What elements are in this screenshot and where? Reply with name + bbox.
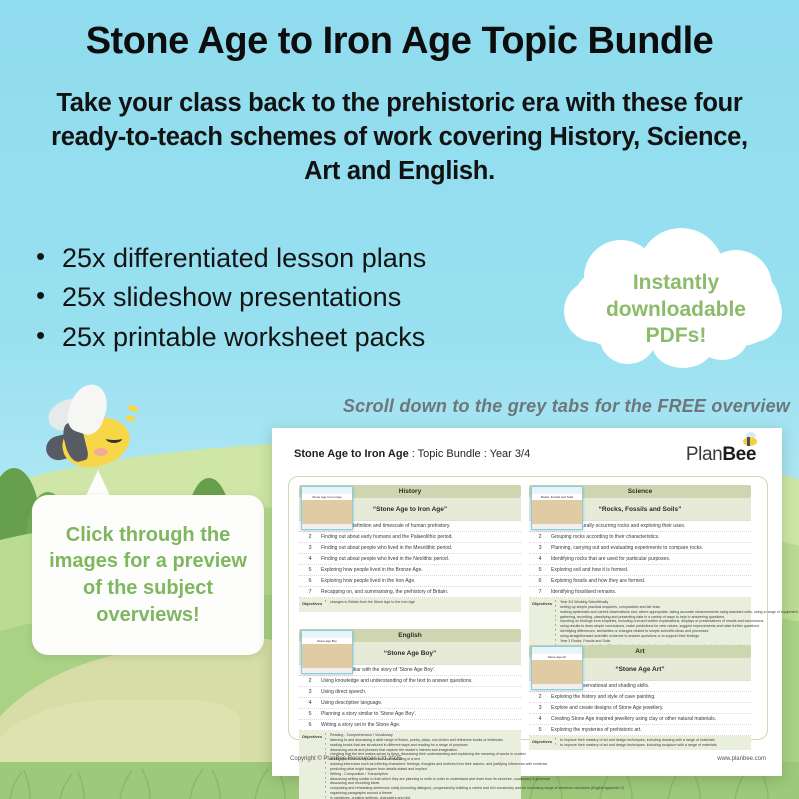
lesson-objective: Planning a story similar to ‘Stone Age B… <box>321 711 416 717</box>
lesson-number: 3 <box>529 705 551 711</box>
scheme-title: “Stone Age Boy” <box>384 650 437 657</box>
table-row: 3Finding out about people who lived in t… <box>299 543 521 554</box>
subject-panel-english[interactable]: Stone Age BoyEnglish“Stone Age Boy”1Beco… <box>299 629 521 799</box>
bee-mascot-icon <box>36 382 140 474</box>
thumbnail-banner <box>532 647 582 654</box>
lesson-objective: Finding out about early humans and the P… <box>321 534 453 540</box>
bee-sparkle-icon <box>127 404 138 412</box>
lesson-number: 5 <box>529 727 551 733</box>
subject-name: History <box>399 488 421 495</box>
lesson-objective: Using direct speech. <box>321 689 366 695</box>
thumbnail-footer <box>302 668 352 673</box>
copyright-text: Copyright © PlanBee Resources Ltd 2025 <box>290 756 402 762</box>
subject-panel-art[interactable]: Stone Age ArtArt“Stone Age Art”1Developi… <box>529 645 751 750</box>
lesson-number: 4 <box>299 700 321 706</box>
lesson-number: 4 <box>529 556 551 562</box>
lesson-objective: Grouping rocks according to their charac… <box>551 534 659 540</box>
thumbnail-cover-image <box>302 644 352 668</box>
list-item: 25x slideshow presentations <box>32 278 426 317</box>
lesson-list: 1Exploring the definition and timescale … <box>299 520 521 598</box>
lesson-number: 3 <box>529 545 551 551</box>
subject-thumbnail-english[interactable]: Stone Age Boy <box>301 630 353 674</box>
speech-bubble[interactable]: Click through the images for a preview o… <box>32 495 264 655</box>
lesson-objective: Using knowledge and understanding of the… <box>321 678 473 684</box>
document-footer: Copyright © PlanBee Resources Ltd 2025 w… <box>290 756 766 762</box>
objective-item: changes in Britain from the Stone Age to… <box>325 600 518 605</box>
table-row: 6Exploring fossils and how they are form… <box>529 576 751 587</box>
table-row: 2Grouping rocks according to their chara… <box>529 532 751 543</box>
curriculum-objectives: ObjectivesReading - Comprehension / Voca… <box>299 731 521 799</box>
subject-name: Art <box>635 648 644 655</box>
lesson-objective: Exploring how people lived in the Iron A… <box>321 578 416 584</box>
table-row: 2Exploring the history and style of cave… <box>529 692 751 703</box>
lesson-number: 2 <box>529 534 551 540</box>
subject-panel-science[interactable]: Rocks, Fossils and SoilsScience“Rocks, F… <box>529 485 751 660</box>
thumbnail-footer <box>532 524 582 529</box>
scroll-hint-text: Scroll down to the grey tabs for the FRE… <box>270 396 790 417</box>
lesson-objective: Explore and create designs of Stone Age … <box>551 705 663 711</box>
subject-thumbnail-art[interactable]: Stone Age Art <box>531 646 583 690</box>
scheme-title: “Stone Age Art” <box>615 666 664 673</box>
objectives-items: changes in Britain from the Stone Age to… <box>325 600 521 610</box>
thumbnail-footer <box>532 684 582 689</box>
poster-canvas: Stone Age to Iron Age Topic Bundle Take … <box>0 0 799 799</box>
lesson-number: 4 <box>299 556 321 562</box>
lesson-objective: Recapping on, and summarising, the prehi… <box>321 589 448 595</box>
thumbnail-footer <box>302 524 352 529</box>
document-preview[interactable]: Stone Age to Iron Age : Topic Bundle : Y… <box>272 428 782 776</box>
lesson-number: 2 <box>299 678 321 684</box>
planbee-logo: PlanBee <box>686 444 756 466</box>
lesson-objective: Planning, carrying out and evaluating ex… <box>551 545 703 551</box>
lesson-number: 7 <box>529 589 551 595</box>
subject-name: English <box>398 632 421 639</box>
logo-plan-text: Plan <box>686 444 722 465</box>
curriculum-objectives: Objectiveschanges in Britain from the St… <box>299 598 521 612</box>
lesson-number: 7 <box>299 589 321 595</box>
table-row: 5Exploring how people lived in the Bronz… <box>299 565 521 576</box>
lesson-number: 3 <box>299 545 321 551</box>
scheme-title: “Stone Age to Iron Age” <box>373 506 447 513</box>
lesson-list: 1Becoming familiar with the story of ‘St… <box>299 664 521 731</box>
list-item: 25x printable worksheet packs <box>32 318 426 357</box>
table-row: 4Identifying rocks that are used for par… <box>529 554 751 565</box>
document-header: Stone Age to Iron Age : Topic Bundle : Y… <box>294 448 764 472</box>
thumbnail-cover-image <box>532 660 582 684</box>
thumbnail-banner <box>302 487 352 494</box>
cloud-badge: Instantly downloadable PDFs! <box>560 228 792 378</box>
lesson-objective: Exploring soil and how it is formed. <box>551 567 628 573</box>
cloud-line-1: Instantly <box>560 270 792 297</box>
bee-blush-icon <box>94 448 108 456</box>
table-row: 3Planning, carrying out and evaluating e… <box>529 543 751 554</box>
table-row: 7Recapping on, and summarising, the preh… <box>299 587 521 598</box>
subject-thumbnail-science[interactable]: Rocks, Fossils and Soils <box>531 486 583 530</box>
curriculum-objectives: Objectivesto improve their mastery of ar… <box>529 736 751 750</box>
lesson-objective: Exploring the history and style of cave … <box>551 694 656 700</box>
objectives-label: Objectives <box>299 733 325 799</box>
website-text: www.planbee.com <box>717 756 766 762</box>
thumbnail-banner <box>532 487 582 494</box>
lesson-objective: Using descriptive language. <box>321 700 382 706</box>
lesson-number: 5 <box>299 567 321 573</box>
lesson-objective: Exploring fossils and how they are forme… <box>551 578 645 584</box>
logo-bee-icon <box>740 432 760 448</box>
document-title-rest: : Topic Bundle : Year 3/4 <box>409 448 531 460</box>
table-row: 5Planning a story similar to ‘Stone Age … <box>299 709 521 720</box>
bee-sparkle-icon <box>125 415 135 423</box>
bee-eye-icon <box>106 434 122 443</box>
objectives-label: Objectives <box>529 738 555 748</box>
thumbnail-banner <box>302 631 352 638</box>
table-row: 2Finding out about early humans and the … <box>299 532 521 543</box>
lesson-number: 2 <box>529 694 551 700</box>
table-row: 7Identifying fossilised remains. <box>529 587 751 598</box>
page-title: Stone Age to Iron Age Topic Bundle <box>0 20 799 63</box>
table-row: 4Using descriptive language. <box>299 698 521 709</box>
cloud-line-2: downloadable <box>560 297 792 324</box>
table-row: 4Creating Stone Age inspired jewellery u… <box>529 714 751 725</box>
objectives-items: to improve their mastery of art and desi… <box>555 738 751 748</box>
thumbnail-cover-image <box>302 500 352 524</box>
table-row: 3Explore and create designs of Stone Age… <box>529 703 751 714</box>
lesson-list: 1Identifying naturally occurring rocks a… <box>529 520 751 598</box>
document-title-bold: Stone Age to Iron Age <box>294 448 409 460</box>
speech-bubble-text: Click through the images for a preview o… <box>32 522 264 628</box>
lesson-number: 6 <box>299 722 321 728</box>
subject-name: Science <box>628 488 653 495</box>
scheme-title: “Rocks, Fossils and Soils” <box>599 506 682 513</box>
lesson-number: 6 <box>299 578 321 584</box>
table-row: 6Writing a story set in the Stone Age. <box>299 720 521 731</box>
lesson-objective: Exploring the mysteries of prehistoric a… <box>551 727 642 733</box>
lesson-number: 5 <box>529 567 551 573</box>
table-row: 4Finding out about people who lived in t… <box>299 554 521 565</box>
objective-item: to improve their mastery of art and desi… <box>555 743 748 748</box>
lesson-number: 2 <box>299 534 321 540</box>
subject-panel-history[interactable]: Stone Age to Iron AgeHistory“Stone Age t… <box>299 485 521 612</box>
table-row: 3Using direct speech. <box>299 687 521 698</box>
cloud-badge-text: Instantly downloadable PDFs! <box>560 270 792 350</box>
page-subtitle: Take your class back to the prehistoric … <box>40 86 759 188</box>
objectives-label: Objectives <box>299 600 325 610</box>
table-row: 5Exploring the mysteries of prehistoric … <box>529 725 751 736</box>
lesson-objective: Creating Stone Age inspired jewellery us… <box>551 716 716 722</box>
lesson-number: 6 <box>529 578 551 584</box>
cloud-line-3: PDFs! <box>560 323 792 350</box>
lesson-objective: Finding out about people who lived in th… <box>321 545 452 551</box>
lesson-objective: Identifying rocks that are used for part… <box>551 556 670 562</box>
subject-thumbnail-history[interactable]: Stone Age to Iron Age <box>301 486 353 530</box>
table-row: 2Using knowledge and understanding of th… <box>299 676 521 687</box>
lesson-number: 4 <box>529 716 551 722</box>
lesson-number: 3 <box>299 689 321 695</box>
thumbnail-cover-image <box>532 500 582 524</box>
lesson-objective: Identifying fossilised remains. <box>551 589 616 595</box>
lesson-objective: Finding out about people who lived in th… <box>321 556 449 562</box>
list-item: 25x differentiated lesson plans <box>32 239 426 278</box>
table-row: 6Exploring how people lived in the Iron … <box>299 576 521 587</box>
lesson-objective: Exploring how people lived in the Bronze… <box>321 567 423 573</box>
lesson-number: 5 <box>299 711 321 717</box>
lesson-objective: Writing a story set in the Stone Age. <box>321 722 400 728</box>
document-content: Stone Age to Iron AgeHistory“Stone Age t… <box>288 476 768 740</box>
feature-list: 25x differentiated lesson plans 25x slid… <box>32 239 426 357</box>
table-row: 5Exploring soil and how it is formed. <box>529 565 751 576</box>
